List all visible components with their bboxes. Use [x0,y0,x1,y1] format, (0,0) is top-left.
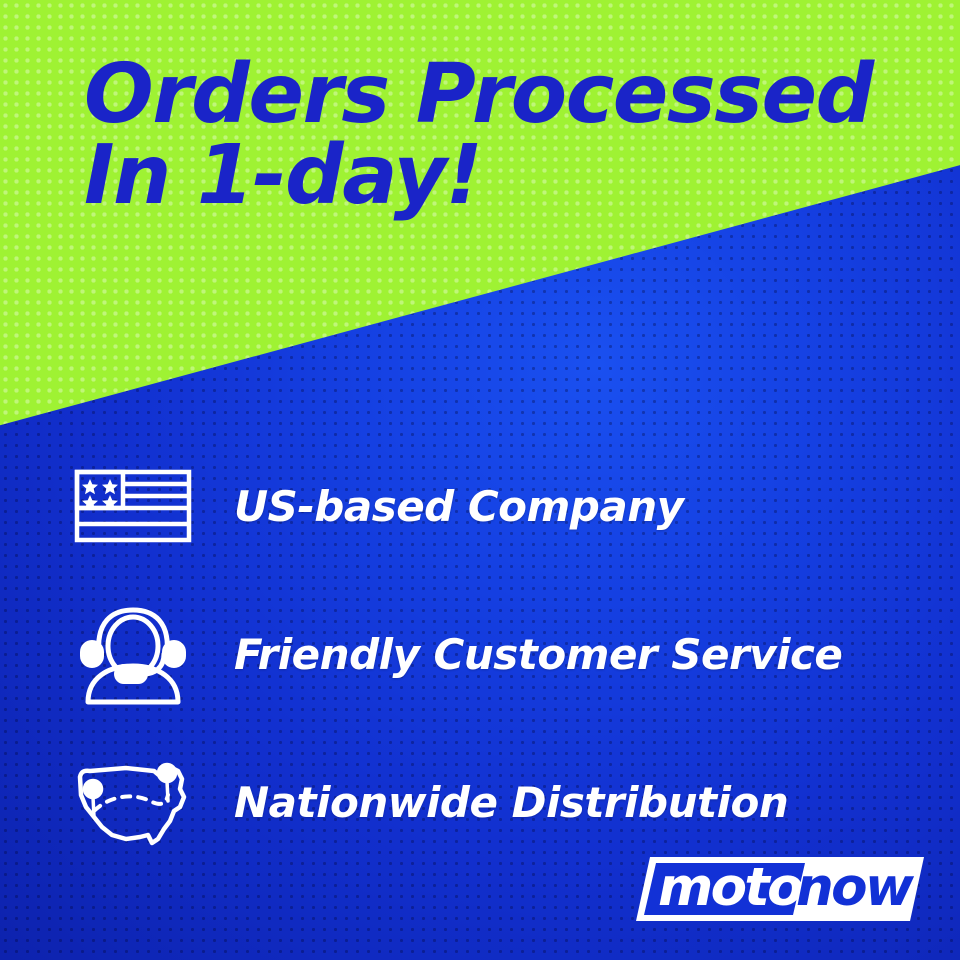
headset-support-icon [68,602,198,706]
feature-list: US-based Company [0,432,960,876]
promo-poster: Orders Processed In 1-day! [0,0,960,960]
feature-label: US-based Company [234,482,684,531]
motonow-logo: moto now [636,853,924,925]
logo-text-now: now [796,857,915,918]
feature-row: Friendly Customer Service [0,580,960,728]
logo-text-moto: moto [658,857,802,918]
headline: Orders Processed In 1-day! [84,56,924,214]
feature-label: Friendly Customer Service [234,630,842,679]
headline-line-2: In 1-day! [84,137,924,214]
feature-row: US-based Company [0,432,960,580]
headline-line-1: Orders Processed [84,56,924,133]
feature-label: Nationwide Distribution [234,778,788,827]
us-flag-icon [68,469,198,543]
us-map-route-icon [68,755,198,849]
